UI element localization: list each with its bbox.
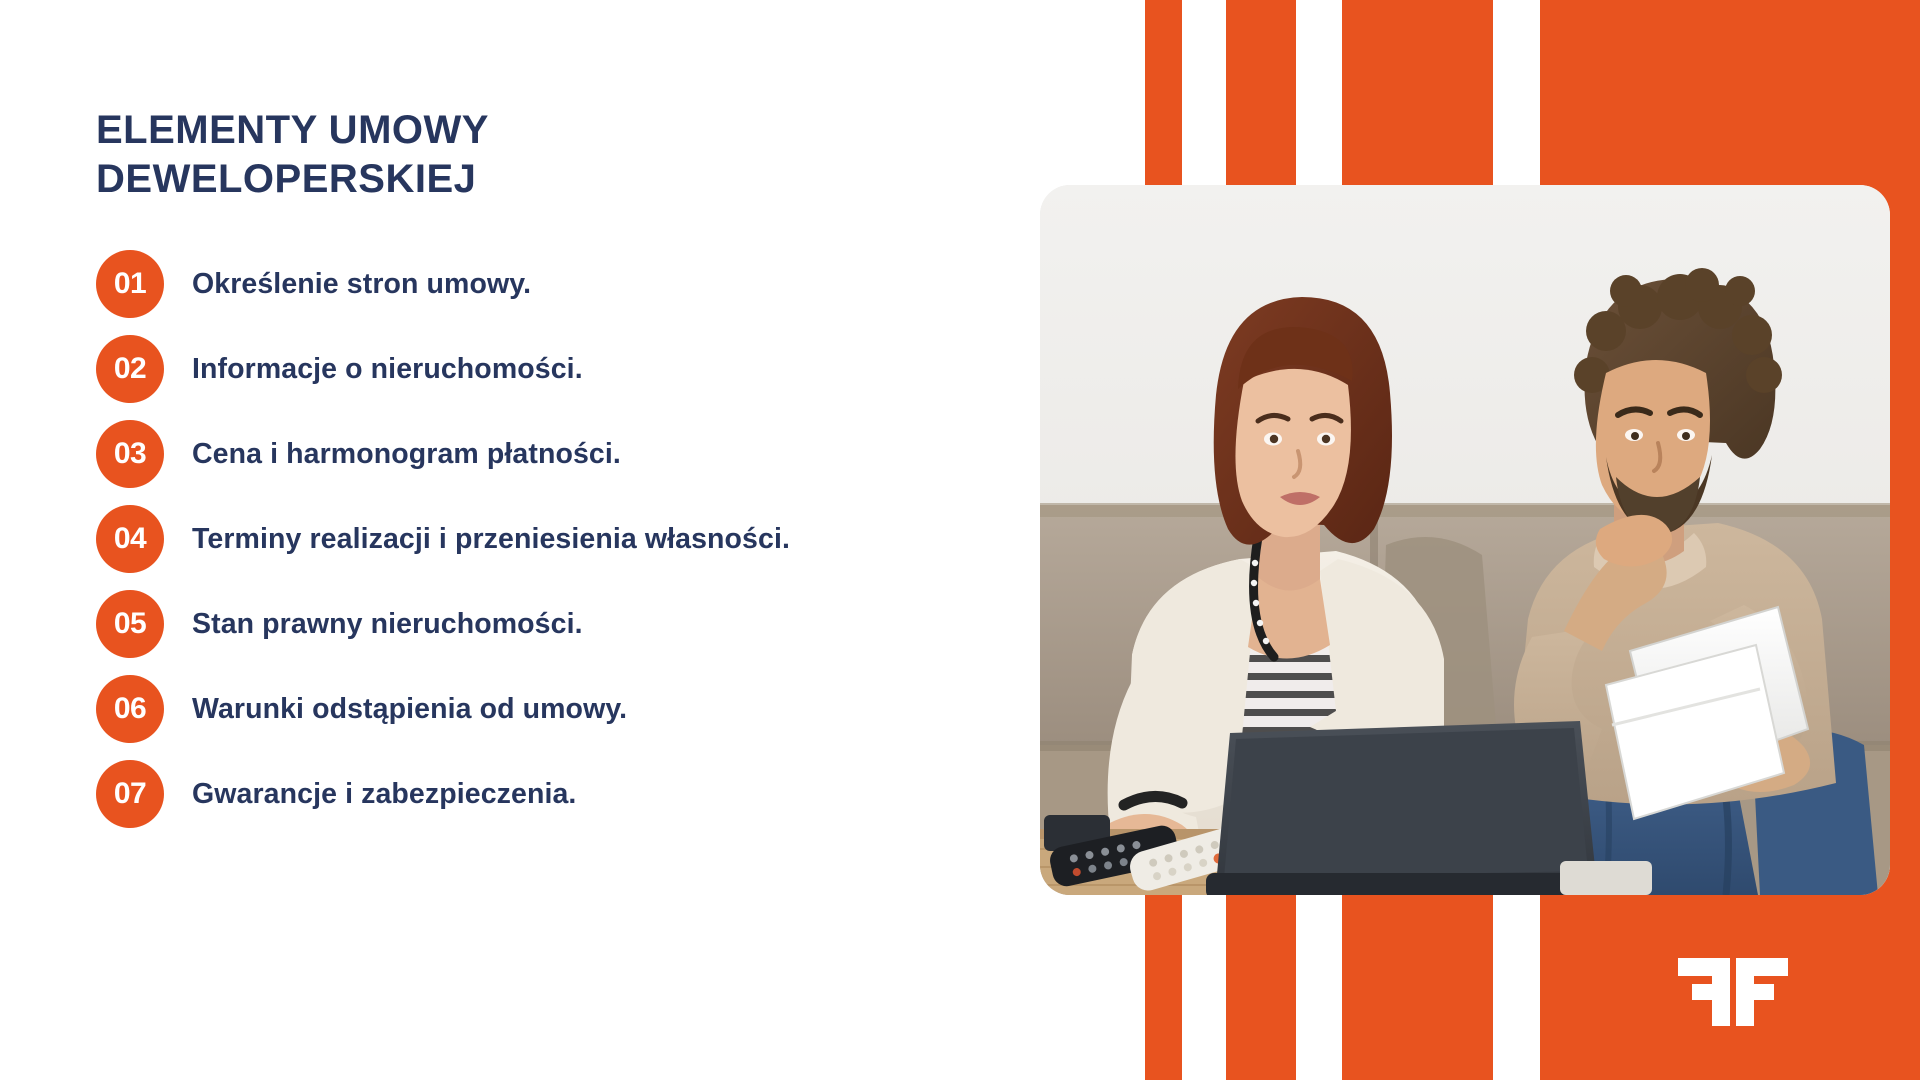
item-label: Określenie stron umowy. <box>192 268 531 301</box>
item-number-badge: 05 <box>96 590 164 658</box>
item-number-badge: 04 <box>96 505 164 573</box>
page-title: ELEMENTY UMOWY DEWELOPERSKIEJ <box>96 106 616 204</box>
list-item: 01 Określenie stron umowy. <box>96 250 996 319</box>
list-item: 05 Stan prawny nieruchomości. <box>96 590 996 659</box>
list-item: 07 Gwarancje i zabezpieczenia. <box>96 760 996 829</box>
couple-reviewing-documents-photo <box>1040 185 1890 895</box>
item-number-badge: 06 <box>96 675 164 743</box>
list-item: 04 Terminy realizacji i przeniesienia wł… <box>96 505 996 574</box>
ff-monogram-logo <box>1674 954 1794 1026</box>
content-column: ELEMENTY UMOWY DEWELOPERSKIEJ 01 Określe… <box>96 106 996 845</box>
slide-canvas: ELEMENTY UMOWY DEWELOPERSKIEJ 01 Określe… <box>0 0 1920 1080</box>
item-label: Cena i harmonogram płatności. <box>192 438 621 471</box>
list-item: 03 Cena i harmonogram płatności. <box>96 420 996 489</box>
item-number-badge: 01 <box>96 250 164 318</box>
item-label: Informacje o nieruchomości. <box>192 353 583 386</box>
item-number-badge: 07 <box>96 760 164 828</box>
item-label: Terminy realizacji i przeniesienia własn… <box>192 523 790 556</box>
item-label: Stan prawny nieruchomości. <box>192 608 583 641</box>
item-number-badge: 02 <box>96 335 164 403</box>
item-number-badge: 03 <box>96 420 164 488</box>
numbered-list: 01 Określenie stron umowy. 02 Informacje… <box>96 250 996 829</box>
item-label: Gwarancje i zabezpieczenia. <box>192 778 576 811</box>
list-item: 02 Informacje o nieruchomości. <box>96 335 996 404</box>
item-label: Warunki odstąpienia od umowy. <box>192 693 627 726</box>
list-item: 06 Warunki odstąpienia od umowy. <box>96 675 996 744</box>
